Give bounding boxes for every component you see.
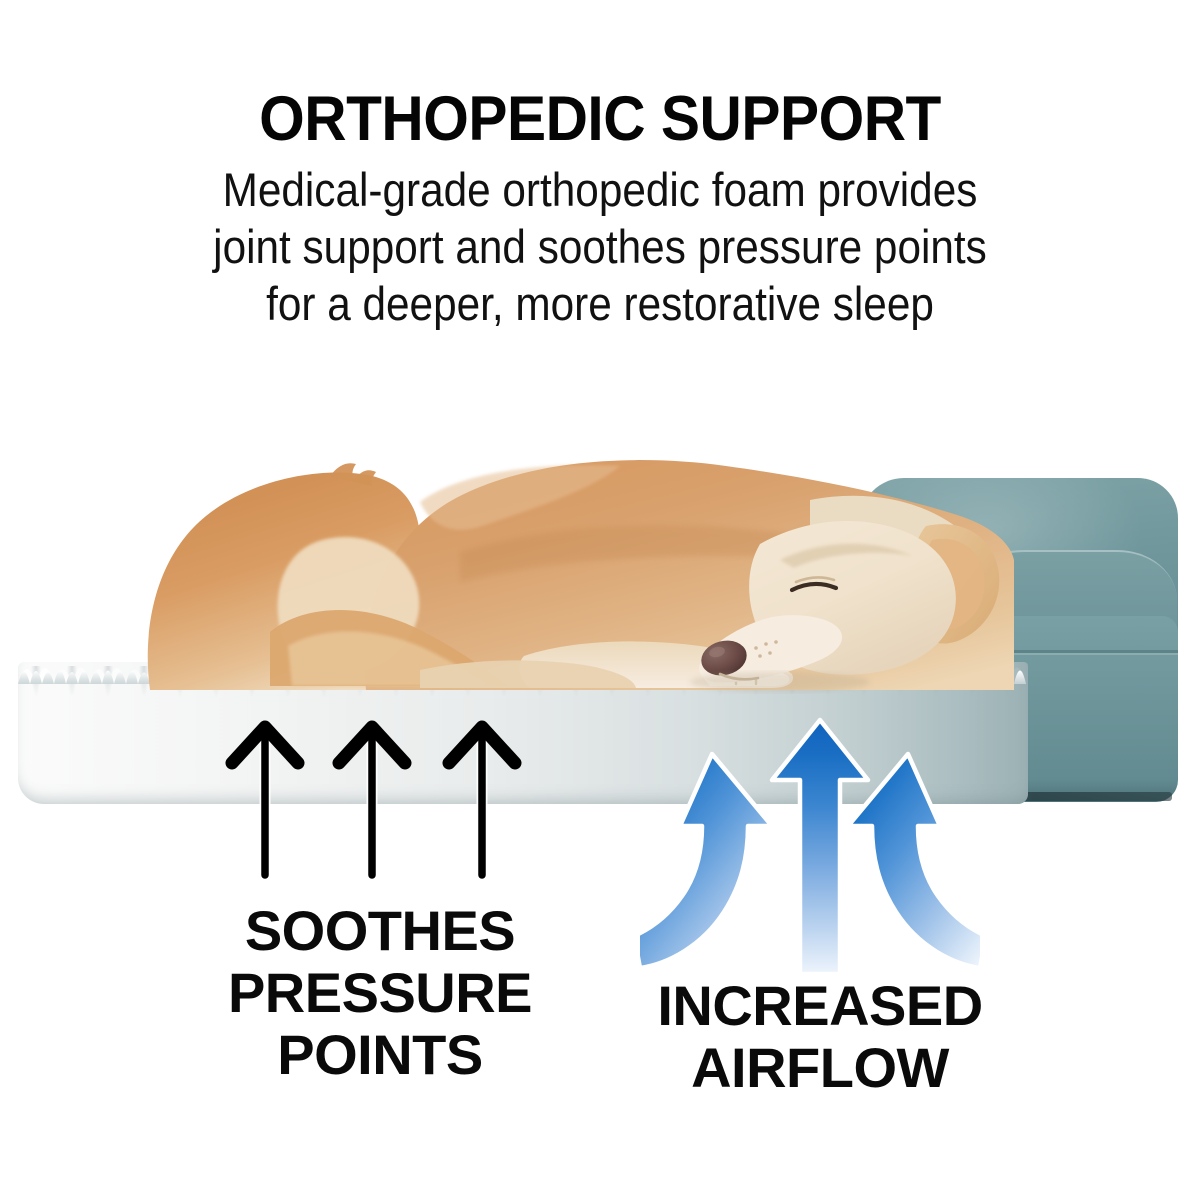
page-title: ORTHOPEDIC SUPPORT	[42, 86, 1158, 152]
pressure-points-label: SOOTHES PRESSURE POINTS	[170, 900, 590, 1086]
pressure-label-line-1: SOOTHES	[170, 900, 590, 962]
header-block: ORTHOPEDIC SUPPORT Medical-grade orthope…	[0, 86, 1200, 332]
subtitle-line-3: for a deeper, more restorative sleep	[60, 275, 1140, 332]
airflow-arrow-center	[772, 720, 868, 974]
sleeping-dog	[120, 432, 1070, 694]
airflow-label-line-1: INCREASED	[620, 975, 1020, 1037]
page-subtitle: Medical-grade orthopedic foam provides j…	[60, 161, 1140, 332]
airflow-arrow-left	[640, 754, 772, 968]
subtitle-line-2: joint support and soothes pressure point…	[60, 218, 1140, 275]
airflow-arrow-right	[848, 754, 980, 968]
airflow-label-line-2: AIRFLOW	[620, 1037, 1020, 1099]
pressure-label-line-3: POINTS	[170, 1024, 590, 1086]
airflow-arrows	[640, 706, 980, 976]
pressure-point-arrows	[210, 715, 540, 880]
infographic-page: ORTHOPEDIC SUPPORT Medical-grade orthope…	[0, 0, 1200, 1200]
pressure-label-line-2: PRESSURE	[170, 962, 590, 1024]
airflow-label: INCREASED AIRFLOW	[620, 975, 1020, 1099]
subtitle-line-1: Medical-grade orthopedic foam provides	[60, 161, 1140, 218]
product-photo	[0, 420, 1200, 820]
